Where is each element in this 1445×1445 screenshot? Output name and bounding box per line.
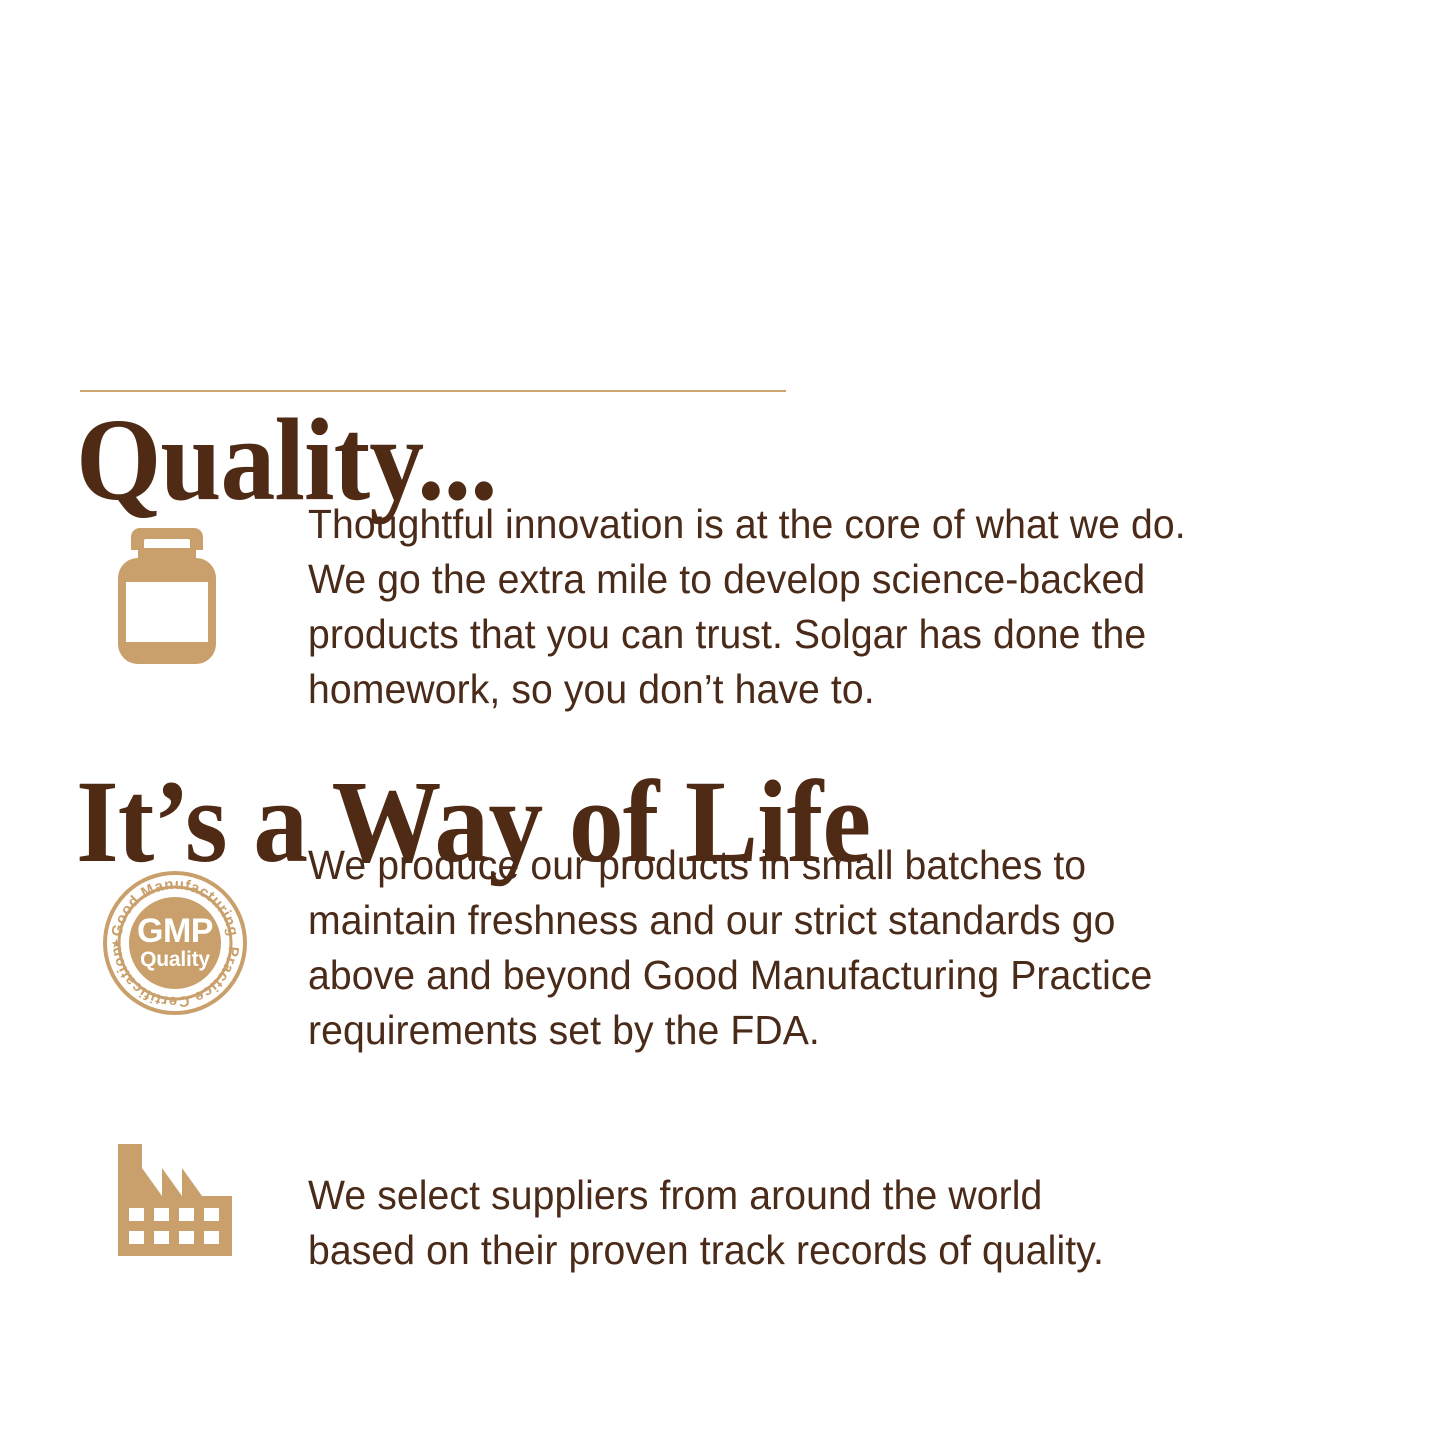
feature-text-innovation: Thoughtful innovation is at the core of … bbox=[308, 497, 1273, 717]
feature-text-gmp: We produce our products in small batches… bbox=[308, 838, 1273, 1058]
gmp-quality-seal-icon: Good Manufacturing Practice Certificatio… bbox=[100, 868, 250, 1018]
svg-text:★: ★ bbox=[111, 936, 123, 951]
quality-page: Quality... It’s a Way of Life Thoughtful… bbox=[0, 0, 1445, 1445]
supplement-bottle-icon bbox=[112, 520, 222, 670]
feature-text-suppliers: We select suppliers from around the worl… bbox=[308, 1168, 1273, 1278]
gmp-badge: Good Manufacturing Practice Certificatio… bbox=[101, 869, 249, 1017]
section-divider bbox=[80, 390, 786, 392]
factory-icon bbox=[110, 1142, 240, 1260]
